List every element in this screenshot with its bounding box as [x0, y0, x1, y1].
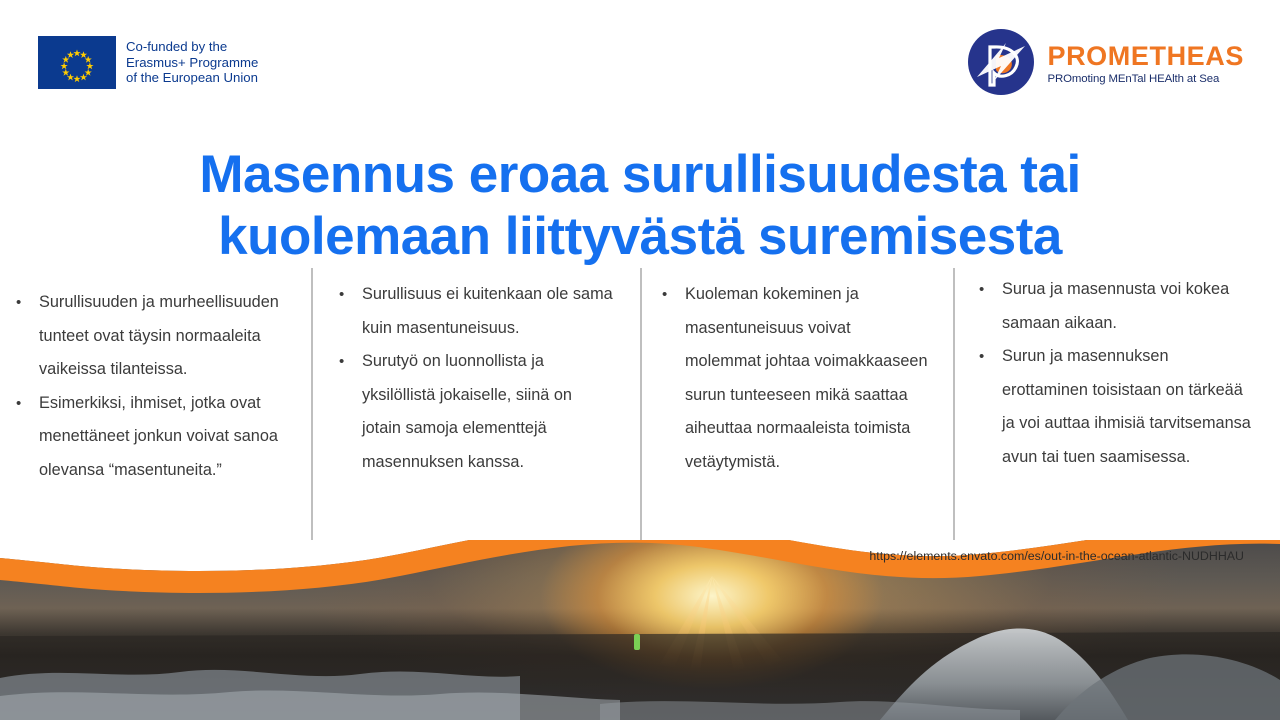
bullet-list-2: Surullisuus ei kuitenkaan ole sama kuin …: [333, 278, 614, 479]
european-union-flag-icon: [38, 36, 116, 89]
prometheas-tagline: PROmoting MEnTal HEAlth at Sea: [1047, 74, 1244, 85]
prometheas-wordmark: PROMETHEAS PROmoting MEnTal HEAlth at Se…: [1047, 39, 1244, 85]
prometheas-logo-mark-icon: [964, 25, 1038, 99]
content-columns: Surullisuuden ja murheellisuuden tunteet…: [0, 268, 1280, 548]
bullet-list-1: Surullisuuden ja murheellisuuden tunteet…: [10, 286, 293, 487]
column-divider: [311, 268, 313, 540]
list-item: Surun ja masennuksen erottaminen toisist…: [973, 340, 1254, 474]
content-column-3: Kuoleman kokeminen ja masentuneisuus voi…: [640, 268, 953, 548]
prometheas-logo: PROMETHEAS PROmoting MEnTal HEAlth at Se…: [964, 25, 1244, 99]
list-item: Kuoleman kokeminen ja masentuneisuus voi…: [656, 278, 931, 479]
list-item: Surullisuuden ja murheellisuuden tunteet…: [10, 286, 293, 387]
bullet-list-3: Kuoleman kokeminen ja masentuneisuus voi…: [656, 278, 931, 479]
erasmus-cofunded-logo: Co-funded by the Erasmus+ Programme of t…: [38, 36, 258, 89]
bullet-list-4: Surua ja masennusta voi kokea samaan aik…: [973, 273, 1254, 474]
list-item: Surua ja masennusta voi kokea samaan aik…: [973, 273, 1254, 340]
presentation-slide: Co-funded by the Erasmus+ Programme of t…: [0, 0, 1280, 720]
prometheas-name: PROMETHEAS: [1047, 43, 1244, 70]
list-item: Surutyö on luonnollista ja yksilöllistä …: [333, 345, 614, 479]
content-column-2: Surullisuus ei kuitenkaan ole sama kuin …: [311, 268, 640, 548]
source-url-credit: https://elements.envato.com/es/out-in-th…: [869, 549, 1244, 563]
slide-title: Masennus eroaa surullisuudesta tai kuole…: [80, 144, 1200, 268]
erasmus-cofunded-label: Co-funded by the Erasmus+ Programme of t…: [126, 39, 258, 86]
column-divider: [953, 268, 955, 540]
list-item: Surullisuus ei kuitenkaan ole sama kuin …: [333, 278, 614, 345]
ocean-sunset-photo: [0, 540, 1280, 720]
content-column-4: Surua ja masennusta voi kokea samaan aik…: [953, 268, 1280, 548]
column-divider: [640, 268, 642, 540]
list-item: Esimerkiksi, ihmiset, jotka ovat menettä…: [10, 387, 293, 488]
content-column-1: Surullisuuden ja murheellisuuden tunteet…: [0, 268, 311, 548]
